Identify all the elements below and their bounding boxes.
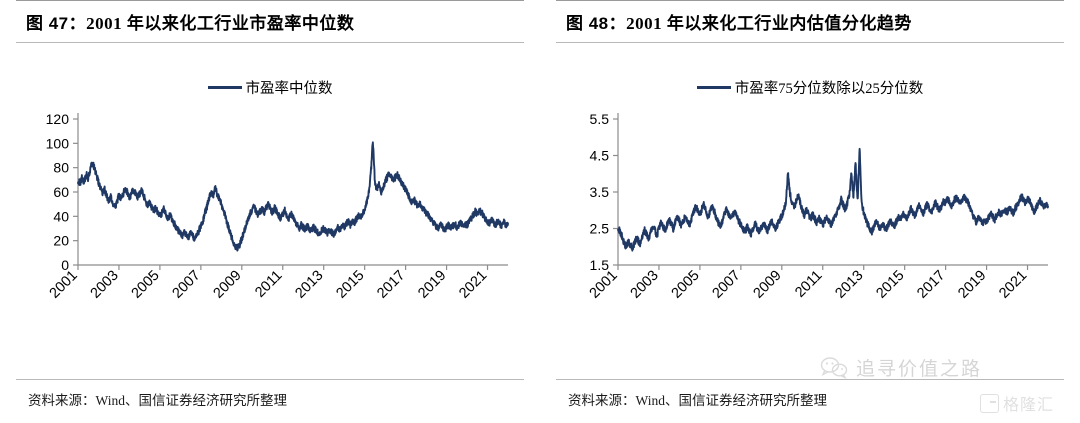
svg-text:2019: 2019 bbox=[955, 268, 989, 302]
svg-text:2003: 2003 bbox=[88, 268, 122, 302]
svg-text:2013: 2013 bbox=[832, 268, 866, 302]
line-chart-47: 0204060801001202001200320052007200920112… bbox=[16, 43, 524, 353]
svg-text:2017: 2017 bbox=[914, 268, 948, 302]
svg-text:2009: 2009 bbox=[211, 268, 245, 302]
figure-page: 图 47：2001 年以来化工行业市盈率中位数 市盈率中位数 020406080… bbox=[0, 0, 1080, 423]
svg-text:40: 40 bbox=[53, 208, 69, 224]
svg-text:2005: 2005 bbox=[129, 268, 163, 302]
figure-panel-48: 图 48：2001 年以来化工行业内估值分化趋势 市盈率75分位数除以25分位数… bbox=[556, 0, 1064, 423]
figure-title-48: 图 48：2001 年以来化工行业内估值分化趋势 bbox=[556, 1, 1064, 42]
svg-text:2011: 2011 bbox=[252, 268, 285, 301]
svg-text:2005: 2005 bbox=[669, 268, 703, 302]
svg-text:2011: 2011 bbox=[792, 268, 825, 301]
figure-number-48: 图 48： bbox=[566, 14, 626, 33]
figure-title-text-48: 2001 年以来化工行业内估值分化趋势 bbox=[626, 14, 912, 33]
svg-text:2021: 2021 bbox=[996, 268, 1030, 302]
watermark-text: 追寻价值之路 bbox=[856, 354, 982, 381]
source-text-48: 资料来源：Wind、国信证券经济研究所整理 bbox=[556, 380, 1064, 409]
svg-text:2015: 2015 bbox=[873, 268, 907, 302]
svg-text:3.5: 3.5 bbox=[590, 184, 610, 200]
svg-text:2007: 2007 bbox=[170, 268, 204, 302]
svg-text:2015: 2015 bbox=[333, 268, 367, 302]
svg-text:4.5: 4.5 bbox=[590, 148, 610, 164]
svg-text:60: 60 bbox=[53, 184, 69, 200]
source-text-47: 资料来源：Wind、国信证券经济研究所整理 bbox=[16, 380, 524, 409]
line-chart-48: 1.52.53.54.55.52001200320052007200920112… bbox=[556, 43, 1064, 353]
svg-text:2003: 2003 bbox=[628, 268, 662, 302]
wechat-icon bbox=[820, 356, 850, 380]
figure-number-47: 图 47： bbox=[26, 14, 86, 33]
source-footer-47: 资料来源：Wind、国信证券经济研究所整理 bbox=[16, 379, 524, 409]
svg-text:5.5: 5.5 bbox=[590, 111, 610, 127]
svg-text:2.5: 2.5 bbox=[590, 221, 610, 237]
svg-text:2001: 2001 bbox=[47, 268, 81, 302]
svg-text:2007: 2007 bbox=[710, 268, 744, 302]
svg-text:80: 80 bbox=[53, 160, 69, 176]
watermark: 追寻价值之路 bbox=[820, 354, 982, 381]
svg-text:100: 100 bbox=[46, 135, 70, 151]
svg-text:2009: 2009 bbox=[751, 268, 785, 302]
figure-panel-47: 图 47：2001 年以来化工行业市盈率中位数 市盈率中位数 020406080… bbox=[16, 0, 524, 423]
figure-title-text-47: 2001 年以来化工行业市盈率中位数 bbox=[86, 14, 354, 33]
svg-text:2021: 2021 bbox=[456, 268, 490, 302]
chart-area-48: 市盈率75分位数除以25分位数 1.52.53.54.55.5200120032… bbox=[556, 43, 1064, 353]
svg-text:120: 120 bbox=[46, 111, 70, 127]
svg-text:2019: 2019 bbox=[415, 268, 449, 302]
source-footer-48: 资料来源：Wind、国信证券经济研究所整理 bbox=[556, 379, 1064, 409]
figure-title-47: 图 47：2001 年以来化工行业市盈率中位数 bbox=[16, 1, 524, 42]
chart-area-47: 市盈率中位数 020406080100120200120032005200720… bbox=[16, 43, 524, 353]
svg-text:2013: 2013 bbox=[292, 268, 326, 302]
svg-text:20: 20 bbox=[53, 233, 69, 249]
svg-text:2017: 2017 bbox=[374, 268, 408, 302]
